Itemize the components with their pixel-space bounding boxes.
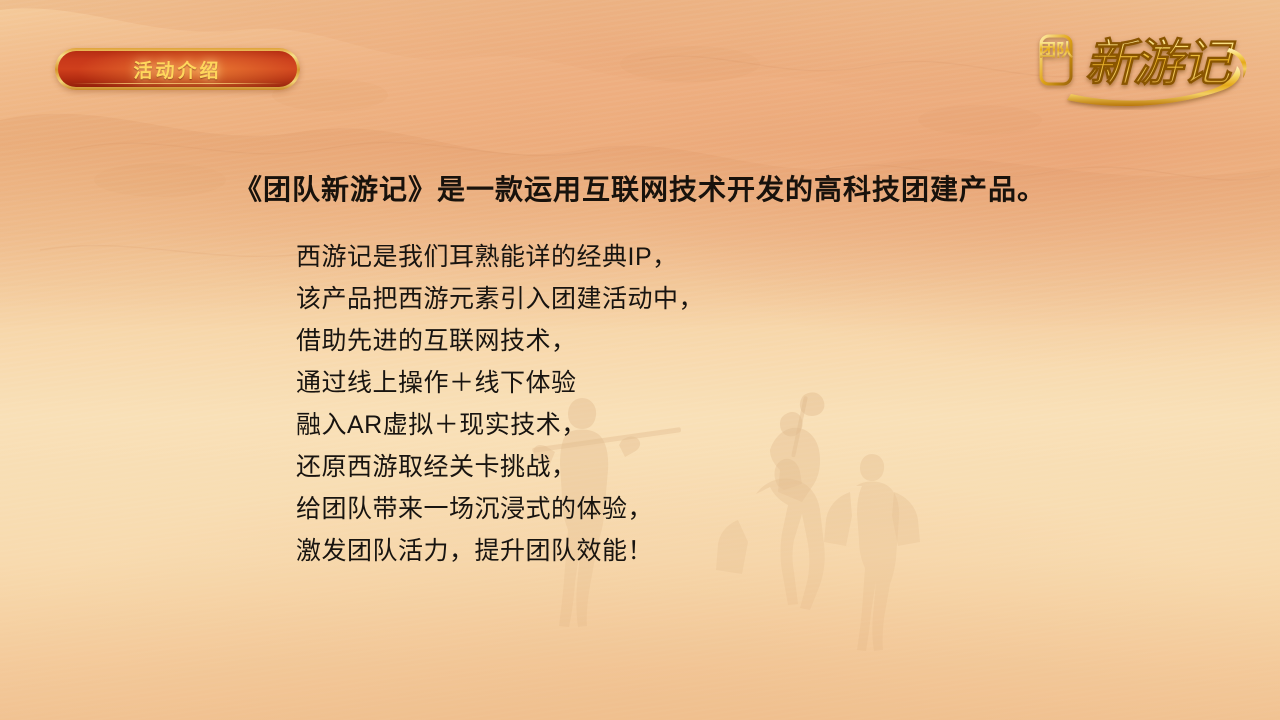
badge-inner-plate: 活动介绍	[58, 51, 297, 87]
description-line: 该产品把西游元素引入团建活动中，	[296, 278, 1056, 320]
description-paragraph: 西游记是我们耳熟能详的经典IP， 该产品把西游元素引入团建活动中， 借助先进的互…	[296, 236, 1056, 572]
description-line: 激发团队活力，提升团队效能！	[296, 530, 1056, 572]
description-line: 借助先进的互联网技术，	[296, 320, 1056, 362]
slide-canvas: 活动介绍	[0, 0, 1280, 720]
description-line: 西游记是我们耳熟能详的经典IP，	[296, 236, 1056, 278]
description-line: 融入AR虚拟＋现实技术，	[296, 404, 1056, 446]
logo-seal-char-1: 团队	[1039, 40, 1074, 60]
description-line: 给团队带来一场沉浸式的体验，	[296, 488, 1056, 530]
logo-title-text: 新游记	[1085, 35, 1237, 91]
page-title: 《团队新游记》是一款运用互联网技术开发的高科技团建产品。	[0, 168, 1280, 208]
description-line: 还原西游取经关卡挑战，	[296, 446, 1056, 488]
badge-label: 活动介绍	[133, 56, 221, 83]
brand-logo: 团队 新游记	[1023, 18, 1258, 110]
brand-logo-icon: 团队 新游记	[1023, 18, 1258, 110]
section-badge-activity-intro[interactable]: 活动介绍	[55, 48, 300, 90]
description-line: 通过线上操作＋线下体验	[296, 362, 1056, 404]
